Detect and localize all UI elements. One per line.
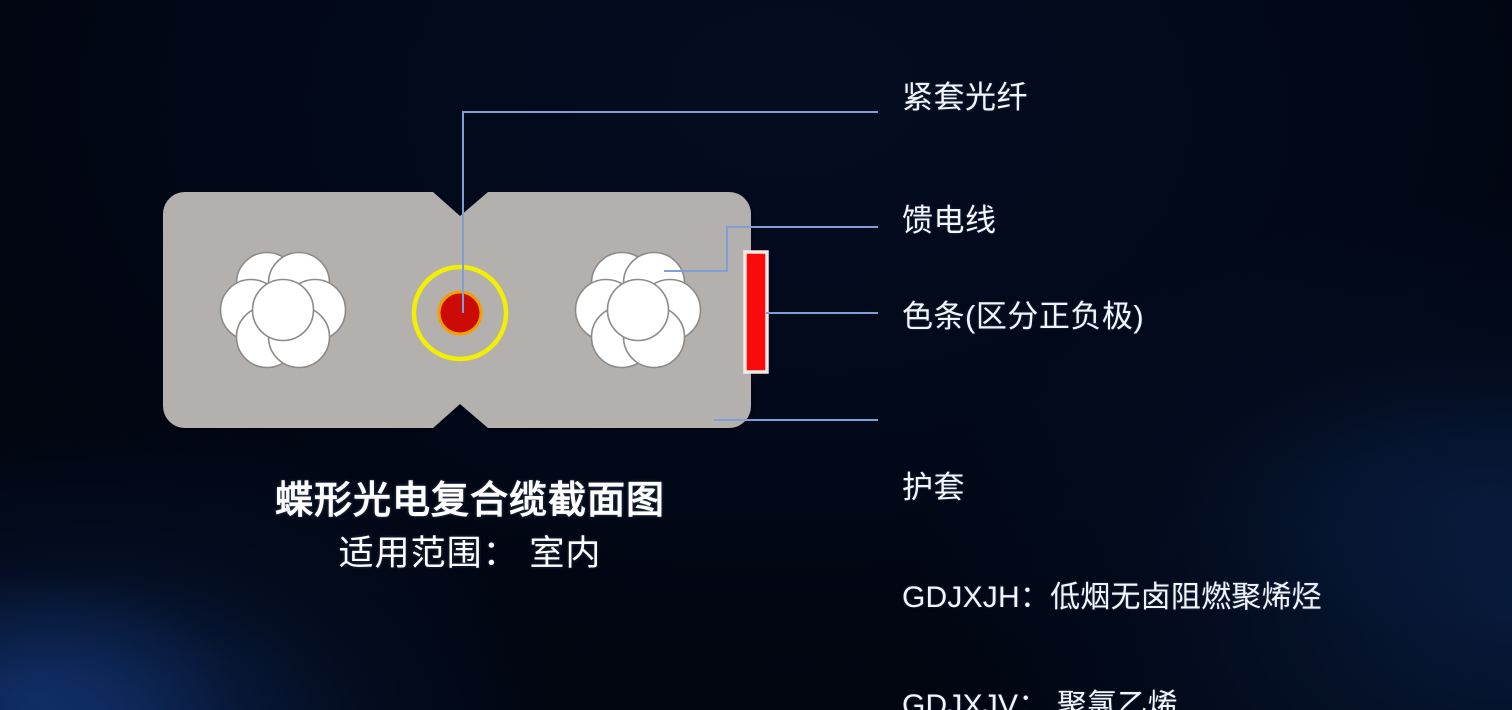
color-stripe-marker [745, 252, 767, 372]
label-tight-buffered-fiber: 紧套光纤 [902, 80, 1028, 117]
conductor-bundle-right [576, 253, 701, 368]
fiber-core [439, 292, 481, 334]
caption-subtitle: 适用范围： 室内 [150, 531, 790, 577]
conductor-bundle-left [221, 253, 346, 368]
cable-svg [150, 180, 790, 450]
label-sheath-spec-gdjxjh: GDJXJH：低烟无卤阻燃聚烯烃 [902, 580, 1322, 615]
diagram-caption: 蝶形光电复合缆截面图 适用范围： 室内 [150, 478, 790, 576]
label-sheath-title: 护套 [902, 470, 1322, 507]
diagram-canvas: 紧套光纤 馈电线 色条(区分正负极) 护套 GDJXJH：低烟无卤阻燃聚烯烃 G… [0, 0, 1512, 710]
cable-cross-section-illustration [150, 180, 790, 450]
label-color-stripe: 色条(区分正负极) [902, 299, 1144, 336]
label-sheath-block: 护套 GDJXJH：低烟无卤阻燃聚烯烃 GDJXJV： 聚氯乙烯 [902, 397, 1322, 710]
label-sheath-spec-gdjxjv: GDJXJV： 聚氯乙烯 [902, 688, 1322, 710]
label-feeder-wire: 馈电线 [902, 203, 997, 240]
caption-title: 蝶形光电复合缆截面图 [150, 478, 790, 526]
